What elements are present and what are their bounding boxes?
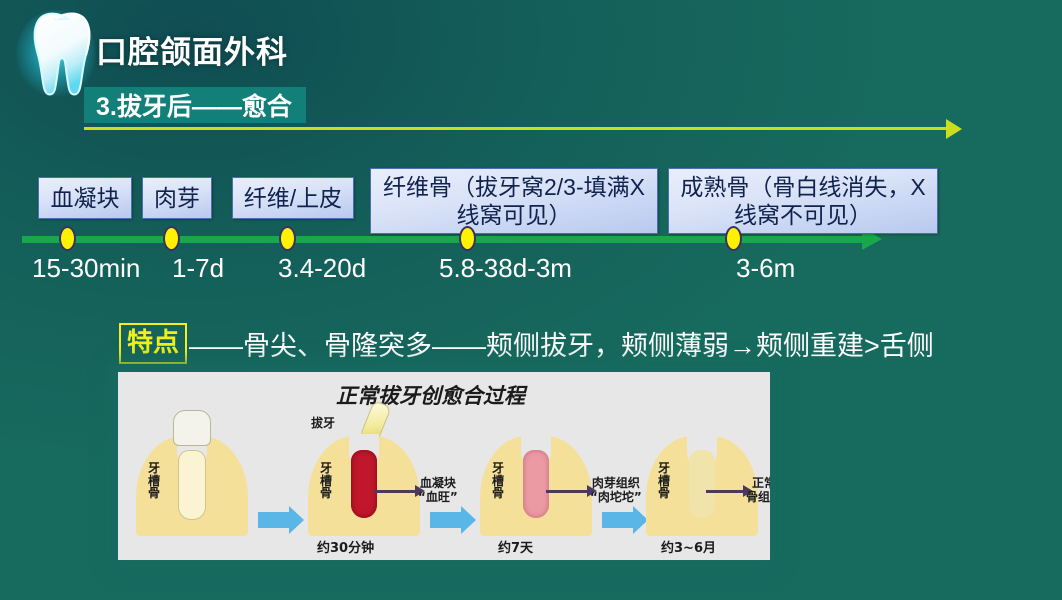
note-line-1: 肉芽组织 bbox=[592, 476, 640, 490]
annotation-arrow-1-icon bbox=[374, 490, 416, 493]
stage-label: 纤维骨（拔牙窝2/3-填满X线窝可见） bbox=[379, 173, 649, 229]
feature-text: ——骨尖、骨隆突多——颊侧拔牙，颊侧薄弱→颊侧重建>舌侧 bbox=[189, 324, 934, 363]
feature-tag: 特点 bbox=[119, 323, 187, 364]
healing-process-image: 正常拔牙创愈合过程 牙槽骨 拔牙 牙槽骨 血凝块 “血旺” 约30分 bbox=[118, 372, 770, 560]
flow-arrow-3-icon bbox=[602, 512, 634, 528]
flow-arrow-1-icon bbox=[258, 512, 290, 528]
bone-label: 牙槽骨 bbox=[655, 462, 673, 500]
stage-time-2: 约7天 bbox=[498, 537, 533, 556]
stage-time-1: 约30分钟 bbox=[317, 537, 374, 556]
annotation-arrow-2-icon bbox=[546, 490, 588, 493]
section-badge: 3.拔牙后——愈合 bbox=[84, 87, 306, 123]
stage-label: 成熟骨（骨白线消失，X线窝不可见） bbox=[677, 173, 929, 229]
stage-box-3: 纤维/上皮 bbox=[232, 177, 354, 219]
jaw-panel-2: 牙槽骨 bbox=[308, 436, 420, 536]
bone-label: 牙槽骨 bbox=[145, 462, 163, 500]
timeline-marker-5 bbox=[725, 226, 742, 251]
note-line-2: 骨组织 bbox=[746, 490, 770, 504]
stage-label: 血凝块 bbox=[51, 184, 120, 212]
timeline-marker-1 bbox=[59, 226, 76, 251]
flow-arrow-2-icon bbox=[430, 512, 462, 528]
jaw-panel-3: 牙槽骨 bbox=[480, 436, 592, 536]
socket-empty bbox=[178, 450, 206, 520]
stage-box-2: 肉芽 bbox=[142, 177, 212, 219]
bone-label: 牙槽骨 bbox=[317, 462, 335, 500]
timeline-caption-2: 1-7d bbox=[172, 253, 224, 284]
socket-blood-clot bbox=[351, 450, 377, 518]
stage-box-1: 血凝块 bbox=[38, 177, 132, 219]
header-divider bbox=[84, 127, 958, 130]
slide-root: 口腔颌面外科 3.拔牙后——愈合 血凝块 肉芽 纤维/上皮 纤维骨（拔牙窝2/3… bbox=[0, 0, 1062, 600]
stage-box-5: 成熟骨（骨白线消失，X线窝不可见） bbox=[668, 168, 938, 234]
header-divider-arrow-icon bbox=[946, 119, 962, 139]
note-line-1: 血凝块 bbox=[420, 476, 456, 490]
timeline-caption-5: 3-6m bbox=[736, 253, 795, 284]
note-line-2: “肉坨坨” bbox=[590, 490, 642, 504]
stage-box-4: 纤维骨（拔牙窝2/3-填满X线窝可见） bbox=[370, 168, 658, 234]
socket-healed-bone bbox=[689, 450, 715, 518]
note-granulation: 肉芽组织 “肉坨坨” bbox=[590, 476, 642, 505]
timeline-caption-3: 3.4-20d bbox=[278, 253, 366, 284]
bone-label: 牙槽骨 bbox=[489, 462, 507, 500]
note-normal-bone: 正常 骨组织 bbox=[746, 476, 770, 505]
stage-label: 纤维/上皮 bbox=[244, 184, 342, 212]
timeline-caption-1: 15-30min bbox=[32, 253, 140, 284]
timeline-marker-2 bbox=[163, 226, 180, 251]
tooth-crown-icon bbox=[173, 410, 211, 446]
annotation-arrow-3-icon bbox=[706, 490, 744, 493]
page-title: 口腔颌面外科 bbox=[96, 27, 288, 72]
jaw-panel-4: 牙槽骨 bbox=[646, 436, 758, 536]
image-title: 正常拔牙创愈合过程 bbox=[336, 380, 525, 410]
timeline-marker-3 bbox=[279, 226, 296, 251]
timeline-caption-4: 5.8-38d-3m bbox=[439, 253, 572, 284]
timeline-marker-4 bbox=[459, 226, 476, 251]
socket-granulation bbox=[523, 450, 549, 518]
jaw-panel-1: 牙槽骨 bbox=[136, 436, 248, 536]
note-line-1: 正常 bbox=[752, 476, 770, 490]
stage-time-3: 约3~6月 bbox=[661, 537, 716, 556]
extract-label: 拔牙 bbox=[311, 416, 335, 430]
note-line-2: “血旺” bbox=[418, 490, 458, 504]
note-blood-clot: 血凝块 “血旺” bbox=[418, 476, 458, 505]
timeline-axis bbox=[22, 236, 875, 243]
stage-label: 肉芽 bbox=[154, 184, 200, 212]
